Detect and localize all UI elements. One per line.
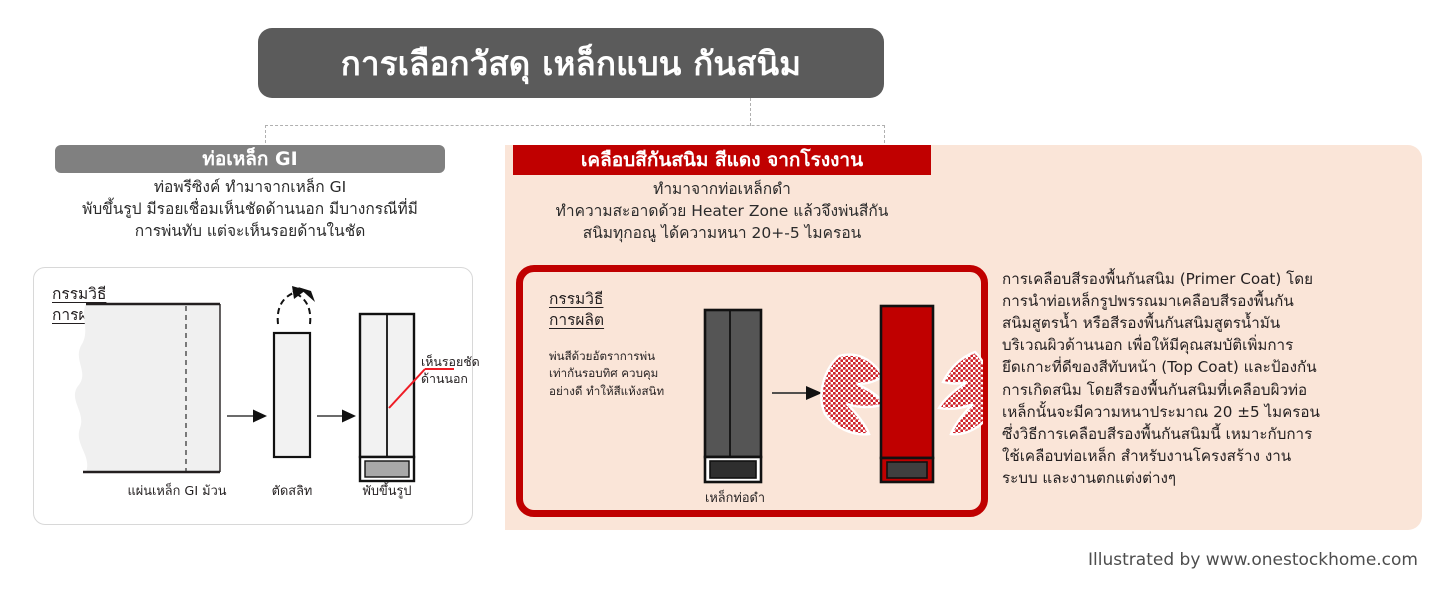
weld-callout-text: เห็นรอยชัด ด้านนอก — [421, 354, 480, 387]
caption-formed: พับขึ้นรูป — [339, 480, 435, 501]
footer-credit: Illustrated by www.onestockhome.com — [1088, 550, 1418, 570]
left-process-box: กรรมวิธี การผลิต — [33, 267, 473, 525]
right-body-line: ซึ่งวิธีการเคลือบสีรองพื้นกันสนิมนี้ เหม… — [1002, 423, 1417, 445]
right-body-line: ใช้เคลือบท่อเหล็ก สำหรับงานโครงสร้าง งาน — [1002, 445, 1417, 467]
painted-red-tube-shape — [881, 306, 933, 482]
arrow-to-painted-tube — [772, 386, 822, 400]
right-body-line: การนำท่อเหล็กรูปพรรณมาเคลือบสีรองพื้นกัน — [1002, 290, 1417, 312]
right-process-box: กรรมวิธี การผลิต พ่นสีด้วยอัตราการพ่น เท… — [516, 265, 988, 517]
weld-callout-line: เห็นรอยชัด — [421, 354, 480, 371]
slit-strip-shape — [274, 333, 310, 457]
left-desc-line: พับขึ้นรูป มีรอยเชื่อมเห็นชัดด้านนอก มีบ… — [0, 198, 500, 220]
arrow-slit-to-formed — [317, 410, 356, 423]
left-panel-description: ท่อพรีซิงค์ ทำมาจากเหล็ก GI พับขึ้นรูป ม… — [0, 176, 500, 242]
caption-slit: ตัดสลิท — [252, 480, 332, 501]
arrow-coil-to-slit — [227, 410, 267, 423]
spray-burst-right — [939, 352, 983, 434]
spray-burst-left — [821, 355, 885, 435]
right-panel-description: ทำมาจากท่อเหล็กดำ ทำความสะอาดด้วย Heater… — [513, 178, 931, 244]
left-desc-line: ท่อพรีซิงค์ ทำมาจากเหล็ก GI — [0, 176, 500, 198]
connector-stem — [750, 98, 751, 126]
right-body-line: ระบบ และงานตกแต่งต่างๆ — [1002, 467, 1417, 489]
right-body-line: บริเวณผิวด้านนอก เพื่อให้มีคุณสมบัติเพิ่… — [1002, 334, 1417, 356]
caption-coil: แผ่นเหล็ก GI ม้วน — [92, 480, 262, 501]
left-desc-line: การพ่นทับ แต่จะเห็นรอยด้านในชัด — [0, 220, 500, 242]
right-body-text: การเคลือบสีรองพื้นกันสนิม (Primer Coat) … — [1002, 268, 1417, 489]
left-panel-header: ท่อเหล็ก GI — [55, 145, 445, 173]
right-body-line: การเกิดสนิม โดยสีรองพื้นกันสนิมที่เคลือบ… — [1002, 379, 1417, 401]
right-desc-line: ทำมาจากท่อเหล็กดำ — [513, 178, 931, 200]
right-desc-line: สนิมทุกอณู ได้ความหนา 20+-5 ไมครอน — [513, 222, 931, 244]
bend-arrows — [278, 286, 315, 324]
page-title-bar: การเลือกวัสดุ เหล็กแบน กันสนิม — [258, 28, 884, 98]
left-panel-header-label: ท่อเหล็ก GI — [202, 144, 297, 174]
right-desc-line: ทำความสะอาดด้วย Heater Zone แล้วจึงพ่นสี… — [513, 200, 931, 222]
right-body-line: สนิมสูตรน้ำ หรือสีรองพื้นกันสนิมสูตรน้ำม… — [1002, 312, 1417, 334]
formed-tube-shape — [360, 314, 414, 481]
right-body-line: เหล็กนั้นจะมีความหนาประมาณ 20 ±5 ไมครอน — [1002, 401, 1417, 423]
right-panel-header-label: เคลือบสีกันสนิม สีแดง จากโรงงาน — [581, 145, 863, 175]
connector-crossbar — [265, 125, 885, 126]
left-column: ท่อเหล็ก GI ท่อพรีซิงค์ ทำมาจากเหล็ก GI … — [0, 145, 500, 242]
caption-black-tube: เหล็กท่อดำ — [675, 487, 795, 508]
weld-callout-line: ด้านนอก — [421, 371, 480, 388]
page-title: การเลือกวัสดุ เหล็กแบน กันสนิม — [341, 37, 801, 90]
right-body-line: ยึดเกาะที่ดีของสีทับหน้า (Top Coat) และป… — [1002, 356, 1417, 378]
black-steel-tube-shape — [705, 310, 761, 482]
right-body-line: การเคลือบสีรองพื้นกันสนิม (Primer Coat) … — [1002, 268, 1417, 290]
coil-sheet-shape — [75, 304, 220, 472]
right-process-diagram — [523, 272, 983, 512]
right-panel-header: เคลือบสีกันสนิม สีแดง จากโรงงาน — [513, 145, 931, 175]
